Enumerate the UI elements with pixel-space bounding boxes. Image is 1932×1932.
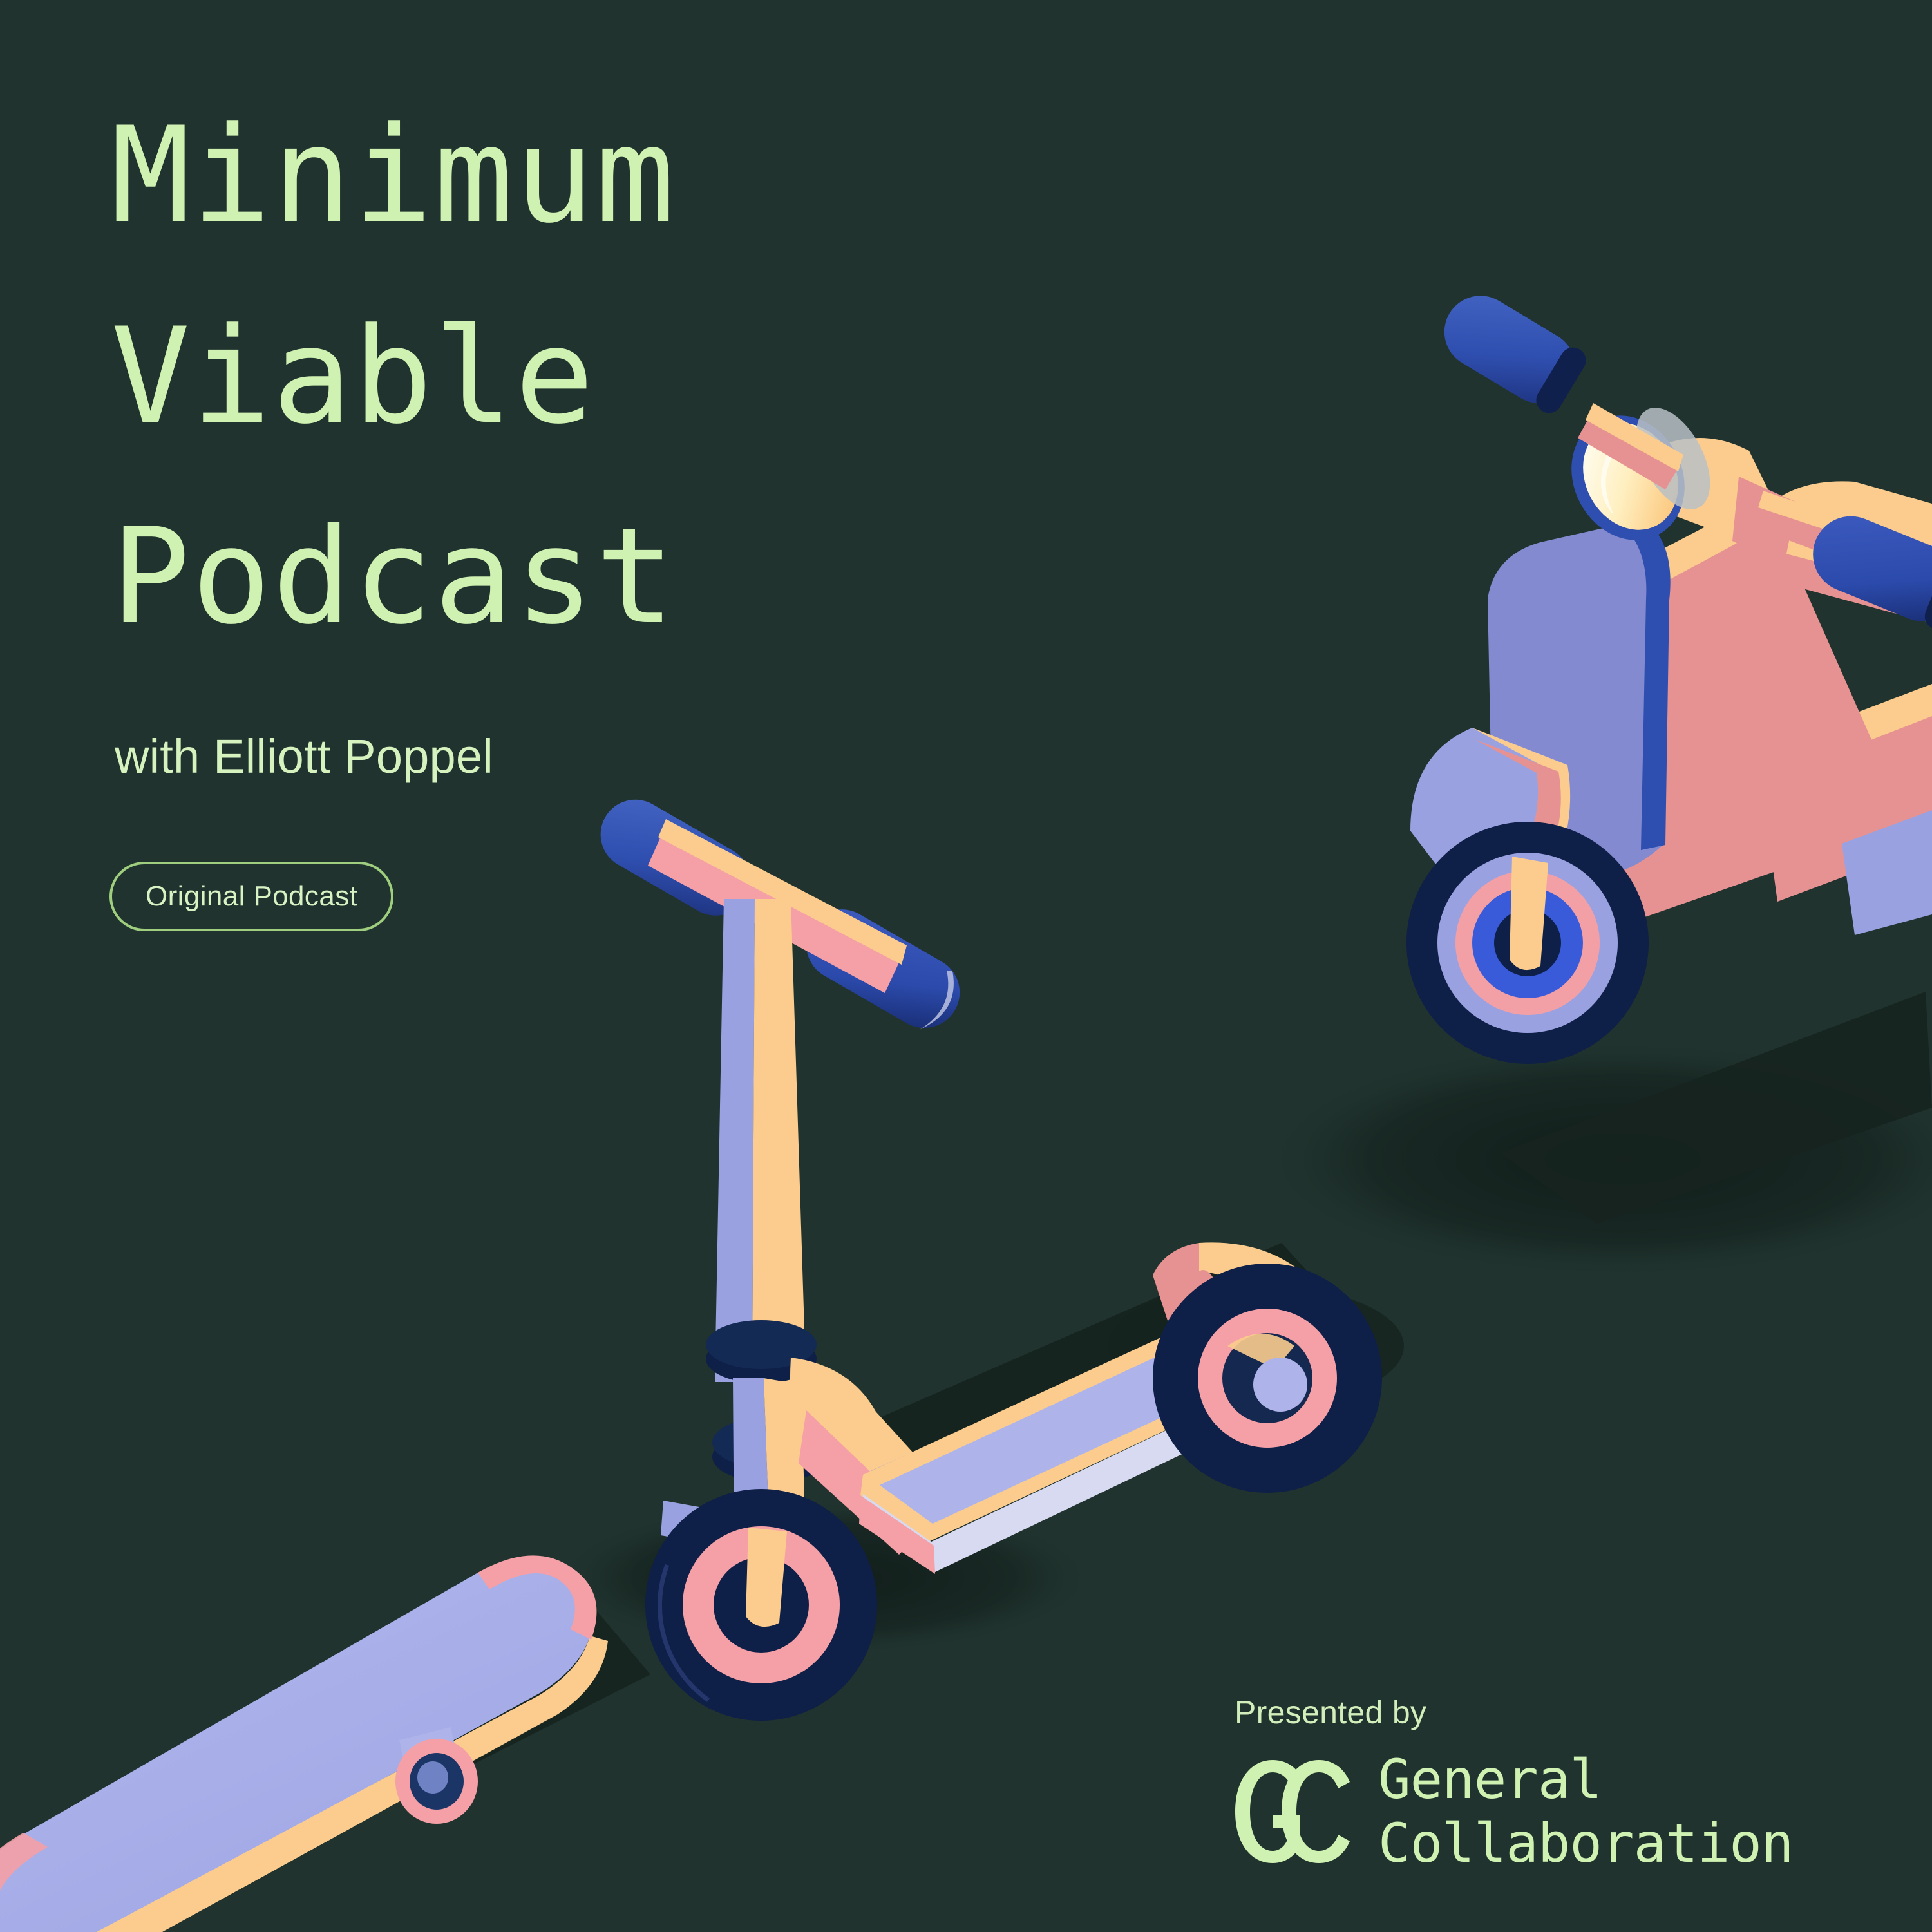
status-badge-label: Original Podcast	[146, 880, 357, 913]
page-title: Minimum Viable Podcast	[111, 76, 1206, 678]
host-subtitle: with Elliott Poppel	[115, 729, 493, 784]
kick-scooter-front-wheel	[645, 1489, 877, 1721]
brand-name-line-1: General	[1378, 1748, 1793, 1812]
brand-row: General Collaboration	[1230, 1748, 1874, 1875]
title-line-2: Viable	[111, 277, 1206, 478]
status-badge: Original Podcast	[109, 862, 393, 931]
kick-scooter-rear-wheel	[1153, 1264, 1382, 1493]
brand-name: General Collaboration	[1378, 1748, 1793, 1875]
presented-by-label: Presented by	[1235, 1694, 1874, 1731]
podcast-cover-art: Minimum Viable Podcast with Elliott Popp…	[0, 0, 1932, 1932]
kick-scooter-rear-hub	[1253, 1358, 1307, 1412]
brand-name-line-2: Collaboration	[1378, 1812, 1793, 1875]
title-line-1: Minimum	[111, 76, 1206, 277]
gc-monogram-icon	[1230, 1756, 1354, 1867]
motor-scooter-front-wheel	[1406, 822, 1649, 1064]
presenter-block: Presented by General Collaboration	[1230, 1694, 1874, 1875]
title-line-3: Podcast	[111, 477, 1206, 678]
